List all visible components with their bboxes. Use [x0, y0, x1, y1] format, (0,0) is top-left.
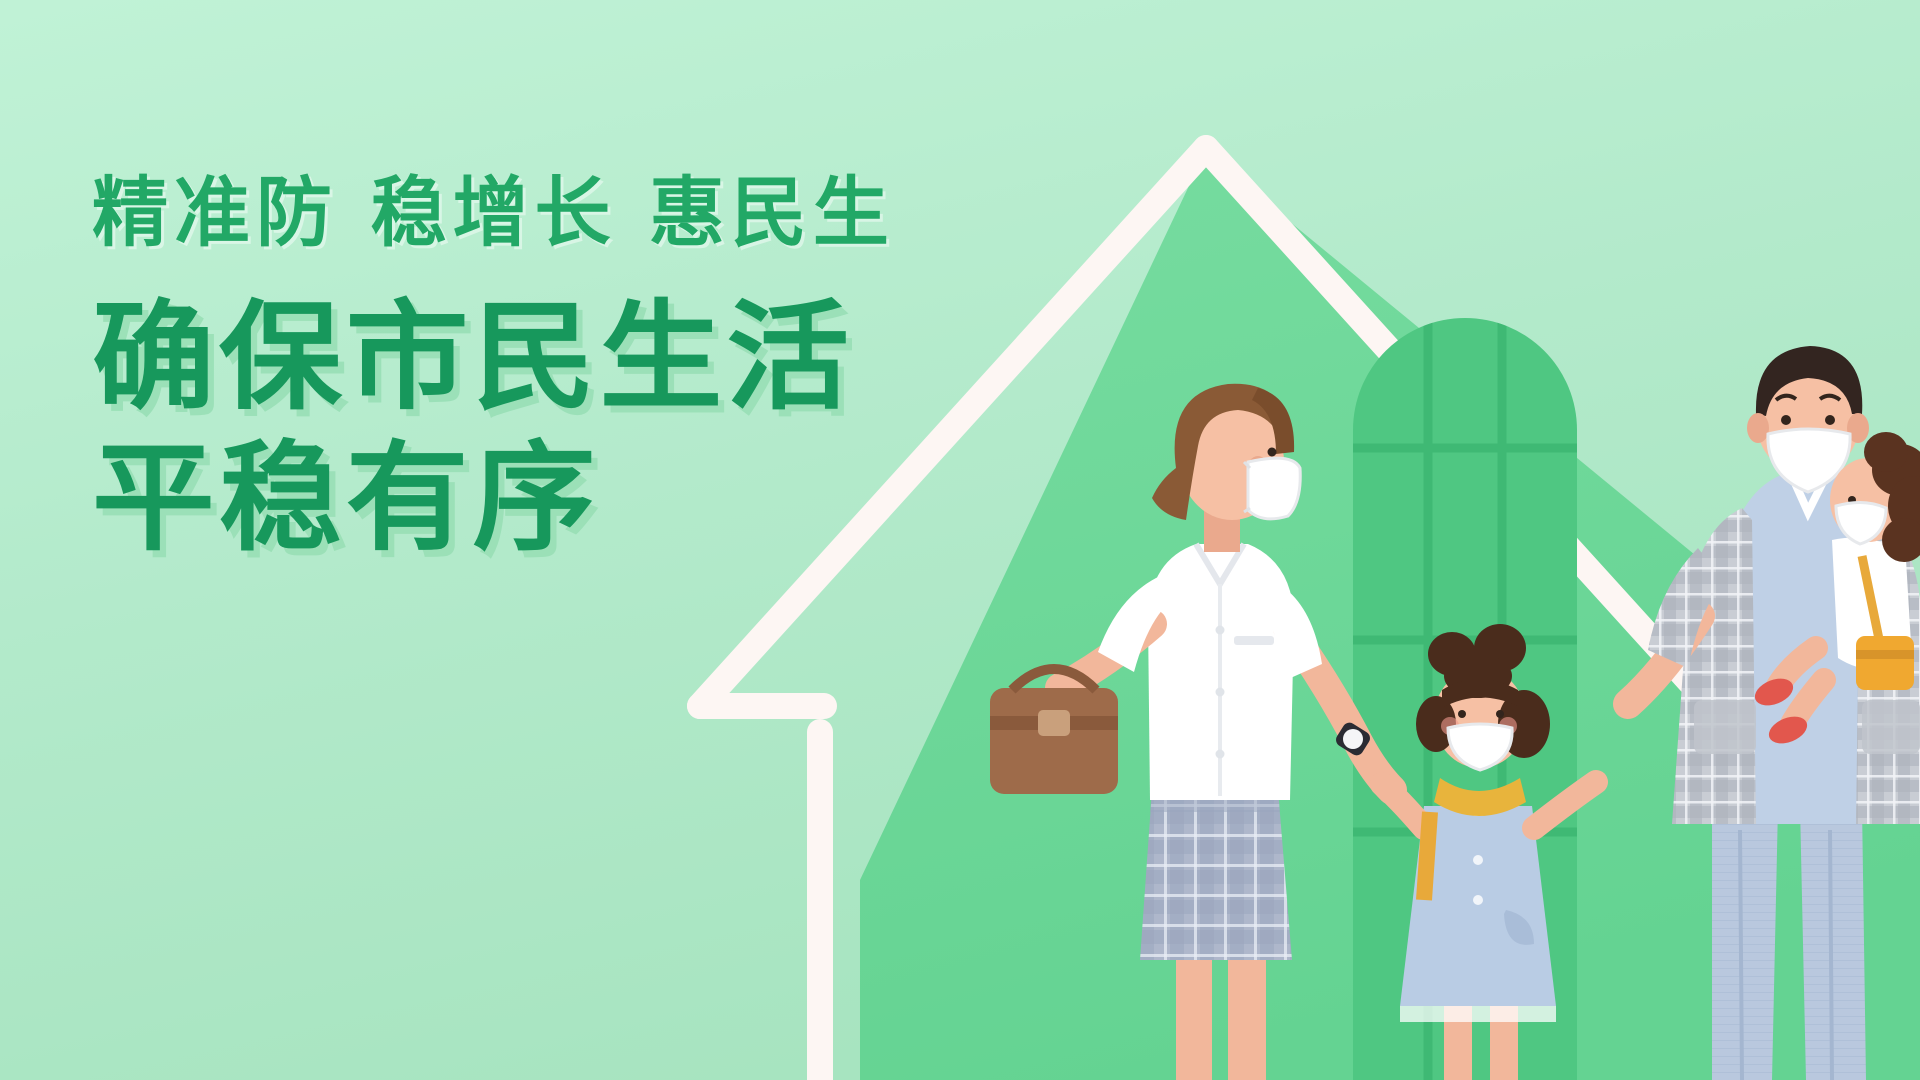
- headline-subtitle: 精准防 稳增长 惠民生: [92, 175, 1092, 251]
- headline-line-2: 平稳有序: [92, 436, 1132, 561]
- father-coat-pocket-right: [1862, 700, 1920, 754]
- poster-canvas: 精准防 稳增长 惠民生 确保市民生活 平稳有序: [0, 0, 1920, 1080]
- headline-line-1: 确保市民生活: [92, 295, 1132, 420]
- mother-skirt: [1140, 790, 1292, 960]
- toddler-bag: [1856, 636, 1914, 690]
- headline-block: 精准防 稳增长 惠民生 确保市民生活 平稳有序: [92, 175, 1092, 561]
- mother-face-mask: [1248, 458, 1300, 519]
- father-coat-pocket-left: [1694, 700, 1756, 754]
- daughter-backpack-strap: [1424, 812, 1430, 900]
- father-jeans-left: [1712, 806, 1778, 1080]
